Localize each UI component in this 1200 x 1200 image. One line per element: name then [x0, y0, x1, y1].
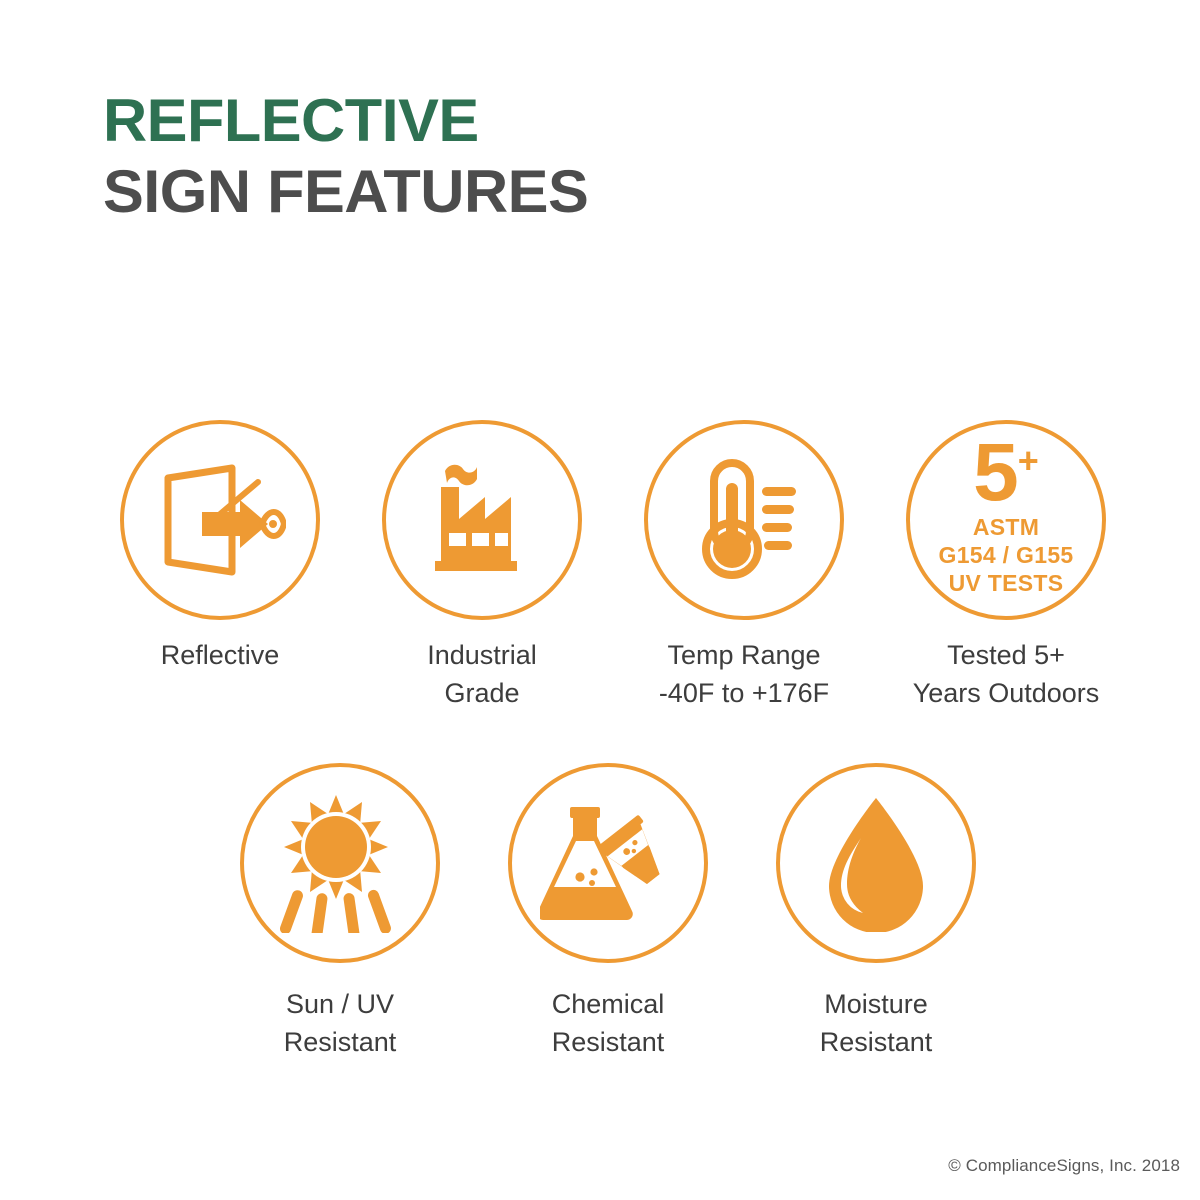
copyright-notice: © ComplianceSigns, Inc. 2018 — [948, 1156, 1180, 1176]
chemical-flasks-icon — [540, 799, 676, 927]
page-title: REFLECTIVE SIGN FEATURES — [103, 92, 579, 220]
sign-reflection-icon — [154, 456, 286, 584]
astm-badge-number-group: 5 + — [973, 439, 1039, 508]
feature-icon-circle — [644, 420, 844, 620]
feature-icon-circle — [120, 420, 320, 620]
astm-badge-plus: + — [1018, 443, 1039, 479]
water-droplet-icon — [821, 794, 931, 932]
feature-label: Industrial Grade — [377, 636, 587, 713]
feature-label: Reflective — [115, 636, 325, 674]
astm-badge-icon: 5 + ASTM G154 / G155 UV TESTS — [939, 439, 1074, 597]
feature-label: Moisture Resistant — [761, 985, 991, 1062]
feature-chemical-resistant: Chemical Resistant — [508, 763, 708, 1062]
astm-badge-line-2: G154 / G155 — [939, 541, 1074, 569]
feature-icon-circle: 5 + ASTM G154 / G155 UV TESTS — [906, 420, 1106, 620]
title-line-sign-features: SIGN FEATURES — [103, 163, 588, 220]
feature-temp-range: Temp Range -40F to +176F — [644, 420, 844, 713]
feature-icon-circle — [382, 420, 582, 620]
feature-reflective: Reflective — [120, 420, 320, 713]
feature-label: Tested 5+ Years Outdoors — [881, 636, 1131, 713]
factory-icon — [419, 457, 545, 583]
astm-badge-line-3: UV TESTS — [939, 569, 1074, 597]
infographic-page: REFLECTIVE SIGN FEATURES — [0, 0, 1200, 1200]
astm-badge-line-1: ASTM — [939, 513, 1074, 541]
sun-rays-icon — [270, 793, 410, 933]
feature-industrial-grade: Industrial Grade — [382, 420, 582, 713]
feature-label: Sun / UV Resistant — [225, 985, 455, 1062]
feature-tested-outdoors: 5 + ASTM G154 / G155 UV TESTS Tested 5+ … — [906, 420, 1106, 713]
astm-badge-lines: ASTM G154 / G155 UV TESTS — [939, 513, 1074, 597]
feature-sun-uv-resistant: Sun / UV Resistant — [240, 763, 440, 1062]
thermometer-icon — [682, 457, 806, 583]
title-line-reflective: REFLECTIVE — [103, 92, 588, 149]
feature-moisture-resistant: Moisture Resistant — [776, 763, 976, 1062]
feature-row-2: Sun / UV Resistant — [0, 763, 1200, 1062]
feature-icon-circle — [776, 763, 976, 963]
feature-label: Chemical Resistant — [493, 985, 723, 1062]
feature-row-1: Reflective — [0, 420, 1200, 713]
astm-badge-number: 5 — [973, 439, 1017, 508]
feature-icon-circle — [508, 763, 708, 963]
feature-icon-circle — [240, 763, 440, 963]
feature-label: Temp Range -40F to +176F — [624, 636, 864, 713]
